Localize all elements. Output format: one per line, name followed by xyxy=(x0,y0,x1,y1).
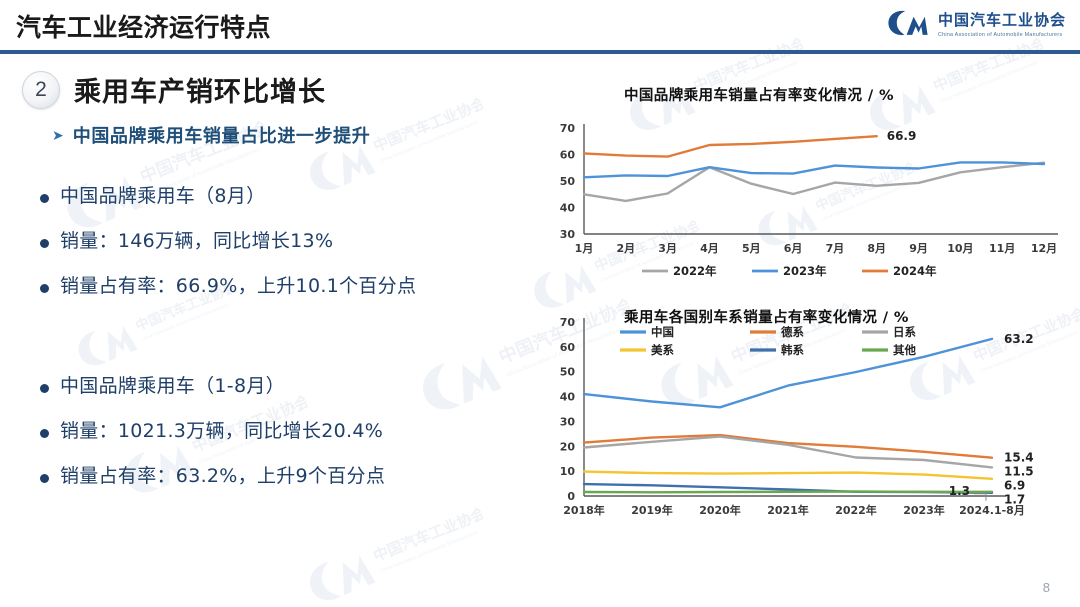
x-axis-tick-label: 2020年 xyxy=(699,503,741,517)
series-line-美系 xyxy=(584,472,992,479)
legend-label-其他: 其他 xyxy=(893,343,916,357)
bullet-text: 销量占有率：63.2%，上升9个百分点 xyxy=(60,465,385,489)
bullet-dot-icon xyxy=(40,474,49,483)
y-axis-tick-label: 30 xyxy=(560,415,576,428)
list-item: 中国品牌乘用车（8月） xyxy=(40,185,540,209)
cam-logo-icon xyxy=(887,8,929,38)
bullet-text: 中国品牌乘用车（1-8月） xyxy=(60,375,285,399)
bullet-dot-icon xyxy=(40,284,49,293)
bullet-text: 销量占有率：66.9%，上升10.1个百分点 xyxy=(60,275,416,299)
chart-legend: 2022年2023年2024年 xyxy=(642,264,937,278)
bullet-text: 销量：146万辆，同比增长13% xyxy=(60,230,333,254)
y-axis-tick-label: 40 xyxy=(560,202,576,215)
data-label: 66.9 xyxy=(887,129,917,143)
leader-line-icon xyxy=(974,494,986,501)
left-content-column: 2 乘用车产销环比增长 ➤ 中国品牌乘用车销量占比进一步提升 中国品牌乘用车（8… xyxy=(0,60,540,600)
list-item: 销量：146万辆，同比增长13% xyxy=(40,230,540,254)
data-label-中国: 63.2 xyxy=(1004,332,1034,346)
series-line-其他 xyxy=(584,492,992,493)
y-axis-tick-label: 20 xyxy=(560,440,576,453)
y-axis-tick-label: 30 xyxy=(560,228,576,241)
chart-plot-area: 30405060701月2月3月4月5月6月7月8月9月10月11月12月66.… xyxy=(528,72,1080,292)
y-axis-tick-label: 70 xyxy=(560,316,576,329)
bullet-group-ytd: 中国品牌乘用车（1-8月） 销量：1021.3万辆，同比增长20.4% 销量占有… xyxy=(40,375,540,509)
bullet-group-month: 中国品牌乘用车（8月） 销量：146万辆，同比增长13% 销量占有率：66.9%… xyxy=(40,185,540,319)
y-axis-tick-label: 50 xyxy=(560,366,576,379)
x-axis-tick-label: 7月 xyxy=(826,242,845,255)
series-line-德系 xyxy=(584,435,992,458)
legend-label-2024年: 2024年 xyxy=(893,264,937,278)
y-axis-tick-label: 40 xyxy=(560,391,576,404)
x-axis-tick-label: 2018年 xyxy=(563,503,605,517)
x-axis-tick-label: 10月 xyxy=(947,242,973,255)
y-axis-tick-label: 0 xyxy=(567,490,575,503)
chart-legend: 中国德系日系美系韩系其他 xyxy=(620,325,916,357)
legend-label-德系: 德系 xyxy=(780,325,804,339)
bullet-text: 销量：1021.3万辆，同比增长20.4% xyxy=(60,420,383,444)
legend-label-韩系: 韩系 xyxy=(781,343,804,357)
brand-logo: 中国汽车工业协会 China Association of Automobile… xyxy=(887,8,1066,38)
x-axis-tick-label: 6月 xyxy=(784,242,803,255)
page-number: 8 xyxy=(1043,580,1050,595)
x-axis-tick-label: 2023年 xyxy=(903,503,945,517)
data-label-美系: 6.9 xyxy=(1004,479,1025,493)
data-label-韩系: 1.3 xyxy=(949,484,970,498)
y-axis-tick-label: 10 xyxy=(560,465,576,478)
section-number-badge: 2 xyxy=(22,71,60,109)
section-subheading: ➤ 中国品牌乘用车销量占比进一步提升 xyxy=(52,122,370,148)
x-axis-tick-label: 8月 xyxy=(867,242,886,255)
x-axis-tick-label: 2月 xyxy=(616,242,635,255)
y-axis-tick-label: 60 xyxy=(560,149,576,162)
bullet-dot-icon xyxy=(40,429,49,438)
chart-plot-area: 0102030405060702018年2019年2020年2021年2022年… xyxy=(528,300,1080,582)
section-heading: 2 乘用车产销环比增长 xyxy=(22,70,326,109)
section-subheading-label: 中国品牌乘用车销量占比进一步提升 xyxy=(73,122,371,148)
bullet-dot-icon xyxy=(40,239,49,248)
y-axis-tick-label: 50 xyxy=(560,175,576,188)
x-axis-tick-label: 9月 xyxy=(909,242,928,255)
chart-share-by-country-origin: 乘用车各国别车系销量占有率变化情况 / % 010203040506070201… xyxy=(528,300,1080,582)
header-divider xyxy=(0,50,1080,54)
x-axis-tick-label: 4月 xyxy=(700,242,719,255)
section-title: 乘用车产销环比增长 xyxy=(74,70,326,109)
list-item: 销量占有率：66.9%，上升10.1个百分点 xyxy=(40,275,540,299)
legend-label-美系: 美系 xyxy=(651,343,674,357)
brand-name-cn: 中国汽车工业协会 xyxy=(938,9,1066,30)
charts-column: 中国品牌乘用车销量占有率变化情况 / % 30405060701月2月3月4月5… xyxy=(528,72,1080,582)
arrow-right-icon: ➤ xyxy=(52,128,64,142)
page-title: 汽车工业经济运行特点 xyxy=(16,8,271,44)
bullet-dot-icon xyxy=(40,194,49,203)
x-axis-tick-label: 5月 xyxy=(742,242,761,255)
x-axis-tick-label: 12月 xyxy=(1031,242,1057,255)
x-axis-tick-label: 11月 xyxy=(989,242,1015,255)
list-item: 销量占有率：63.2%，上升9个百分点 xyxy=(40,465,540,489)
list-item: 销量：1021.3万辆，同比增长20.4% xyxy=(40,420,540,444)
data-label-德系: 15.4 xyxy=(1004,451,1034,465)
y-axis-tick-label: 70 xyxy=(560,122,576,135)
brand-name-en: China Association of Automobile Manufact… xyxy=(938,32,1066,38)
y-axis-tick-label: 60 xyxy=(560,341,576,354)
bullet-dot-icon xyxy=(40,384,49,393)
x-axis-tick-label: 2022年 xyxy=(835,503,877,517)
x-axis-tick-label: 3月 xyxy=(658,242,677,255)
data-label-其他: 1.7 xyxy=(1004,493,1025,507)
chart-chinese-brand-share-monthly: 中国品牌乘用车销量占有率变化情况 / % 30405060701月2月3月4月5… xyxy=(528,72,1080,292)
bullet-text: 中国品牌乘用车（8月） xyxy=(60,185,265,209)
data-label-日系: 11.5 xyxy=(1004,465,1034,479)
series-line-2024年 xyxy=(584,136,877,156)
legend-label-2022年: 2022年 xyxy=(673,264,717,278)
legend-label-日系: 日系 xyxy=(893,325,916,339)
x-axis-tick-label: 1月 xyxy=(575,242,594,255)
x-axis-tick-label: 2021年 xyxy=(767,503,809,517)
legend-label-中国: 中国 xyxy=(651,325,674,339)
slide-header: 汽车工业经济运行特点 中国汽车工业协会 China Association of… xyxy=(0,0,1080,56)
list-item: 中国品牌乘用车（1-8月） xyxy=(40,375,540,399)
x-axis-tick-label: 2019年 xyxy=(631,503,673,517)
legend-label-2023年: 2023年 xyxy=(783,264,827,278)
